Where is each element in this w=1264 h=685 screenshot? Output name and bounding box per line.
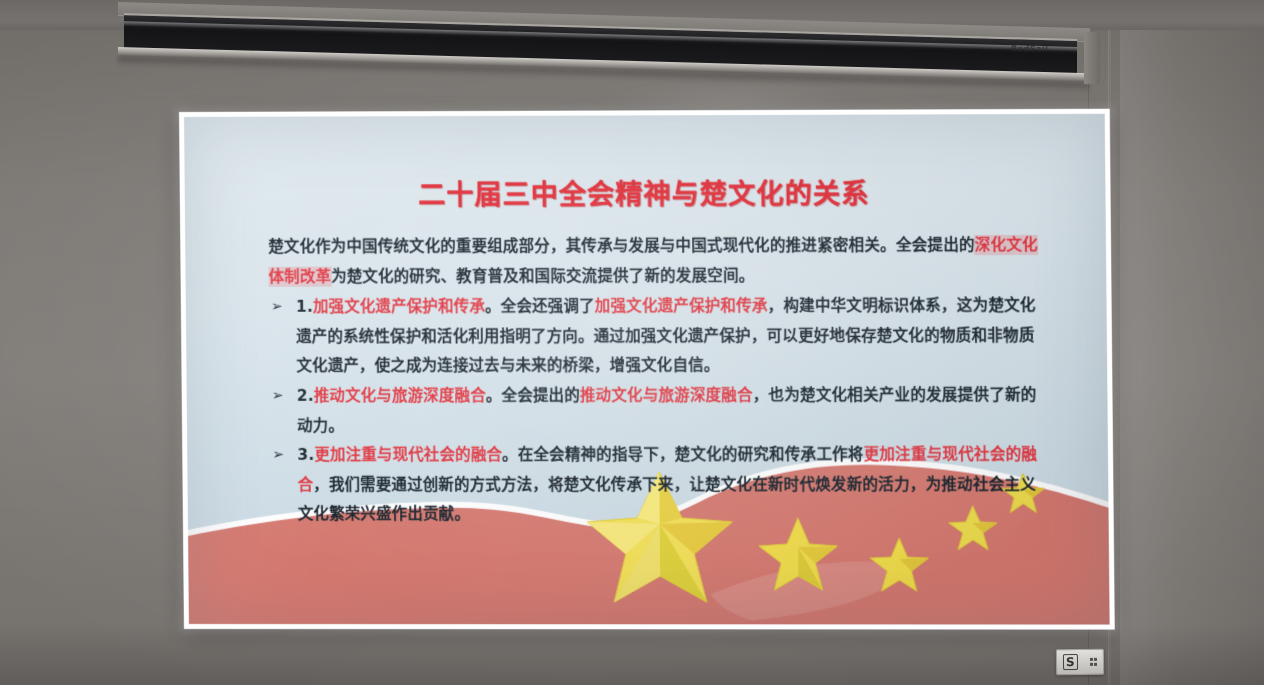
slide-paragraph: 楚文化作为中国传统文化的重要组成部分，其传承与发展与中国式现代化的推进紧密相关。…	[268, 231, 1044, 292]
slide-body-text: 楚文化作为中国传统文化的重要组成部分，其传承与发展与中国式现代化的推进紧密相关。…	[268, 231, 1047, 530]
slide-white-border: 二十届三中全会精神与楚文化的关系 楚文化作为中国传统文化的重要组成部分，其传承与…	[179, 109, 1115, 630]
highlighted-phrase: 加强文化遗产保护和传承	[595, 297, 768, 315]
body-text-run: ，我们需要通过创新的方式方法，将楚文化传承下来，让楚文化在新时代焕发新的活力，为…	[298, 475, 1036, 523]
slide-bullet-item: ➢1.加强文化遗产保护和传承。全会还强调了加强文化遗产保护和传承，构建中华文明标…	[269, 291, 1046, 381]
slide-bullet-item: ➢3.更加注重与现代社会的融合。在全会精神的指导下，楚文化的研究和传承工作将更加…	[270, 440, 1047, 530]
wall-corner-panel	[1120, 0, 1264, 685]
slide-bullet-item: ➢2.推动文化与旅游深度融合。全会提出的推动文化与旅游深度融合，也为楚文化相关产…	[270, 381, 1046, 441]
bullet-arrow-icon: ➢	[272, 441, 284, 471]
slide-title: 二十届三中全会精神与楚文化的关系	[185, 171, 1106, 213]
body-text-run: 为楚文化的研究、教育普及和国际交流提供了新的发展空间。	[331, 266, 755, 285]
bullet-arrow-icon: ➢	[272, 382, 284, 412]
housing-end-cap	[1084, 32, 1100, 84]
highlighted-phrase: 推动文化与旅游深度融合	[314, 387, 486, 405]
plate-screw-dots	[1089, 658, 1097, 666]
bullet-number: 3.	[297, 446, 314, 464]
bullet-number: 1.	[296, 298, 313, 316]
body-text-run: 。全会提出的	[486, 386, 580, 404]
housing-brand-label: RedSail	[1011, 45, 1048, 54]
body-text-run: 。全会还强调了	[485, 297, 595, 315]
wall-socket-plate[interactable]: S	[1056, 649, 1104, 676]
bullet-number: 2.	[297, 387, 314, 405]
projected-slide: 二十届三中全会精神与楚文化的关系 楚文化作为中国传统文化的重要组成部分，其传承与…	[179, 109, 1115, 630]
slide-content: 二十届三中全会精神与楚文化的关系 楚文化作为中国传统文化的重要组成部分，其传承与…	[184, 114, 1110, 625]
highlighted-phrase: 加强文化遗产保护和传承	[313, 298, 485, 316]
classroom-photo-scene: RedSail	[0, 0, 1264, 685]
highlighted-phrase: 更加注重与现代社会的融合	[314, 446, 502, 464]
bullet-arrow-icon: ➢	[271, 293, 283, 323]
body-text-run: 。在全会精神的指导下，楚文化的研究和传承工作将	[502, 446, 864, 464]
slide-canvas: 二十届三中全会精神与楚文化的关系 楚文化作为中国传统文化的重要组成部分，其传承与…	[184, 114, 1110, 625]
highlighted-phrase: 推动文化与旅游深度融合	[580, 386, 753, 404]
body-text-run: 楚文化作为中国传统文化的重要组成部分，其传承与发展与中国式现代化的推进紧密相关。…	[268, 236, 975, 256]
plate-s-glyph: S	[1063, 654, 1078, 670]
